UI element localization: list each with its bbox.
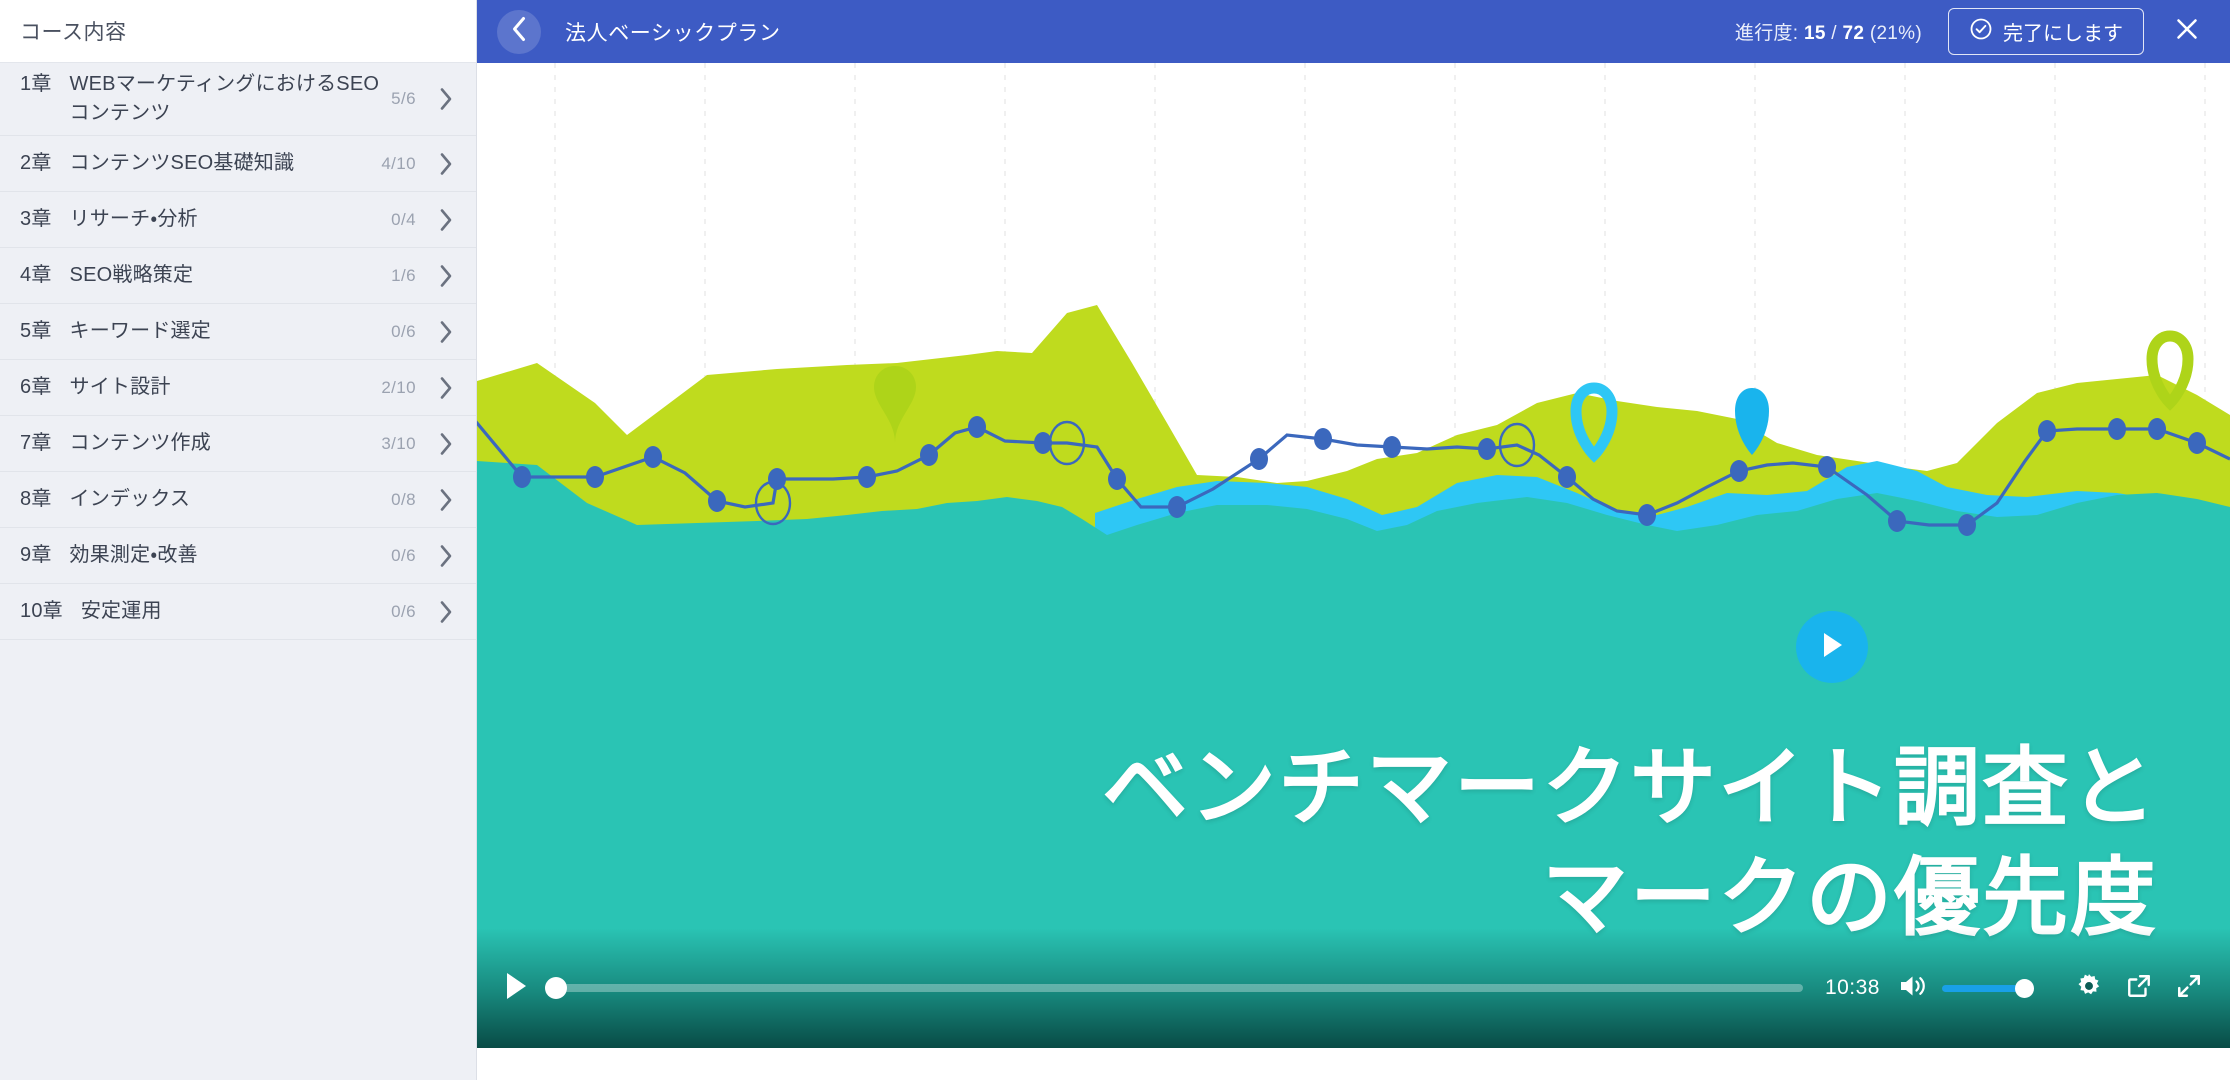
- seek-bar[interactable]: [545, 973, 1803, 1003]
- chevron-right-icon[interactable]: [438, 263, 454, 289]
- chapter-number: 4章: [20, 261, 52, 290]
- chapter-progress-count: 1/6: [391, 266, 416, 286]
- chapter-number: 7章: [20, 429, 52, 458]
- play-icon: [503, 971, 529, 1006]
- mark-complete-label: 完了にします: [2003, 17, 2123, 46]
- chapter-label: 4章SEO戦略策定: [20, 255, 379, 296]
- chapter-number: 2章: [20, 149, 52, 178]
- fullscreen-icon: [2176, 973, 2202, 1004]
- chapter-title: SEO戦略策定: [70, 261, 194, 290]
- chevron-right-icon[interactable]: [438, 487, 454, 513]
- chapter-number: 9章: [20, 541, 52, 570]
- chevron-right-icon[interactable]: [438, 599, 454, 625]
- chapter-row[interactable]: 3章リサーチ・分析0/4: [0, 192, 476, 248]
- chevron-right-icon[interactable]: [438, 86, 454, 112]
- course-content-sidebar: コース内容 1章WEBマーケティングにおけるSEOコンテンツ5/62章コンテンツ…: [0, 0, 477, 1080]
- chapter-label: 9章効果測定・改善: [20, 535, 379, 576]
- course-player-window: コース内容 1章WEBマーケティングにおけるSEOコンテンツ5/62章コンテンツ…: [0, 0, 2230, 1080]
- video-title: ベンチマークサイト調査と マークの優先度: [918, 733, 2158, 953]
- chapter-title: WEBマーケティングにおけるSEOコンテンツ: [70, 70, 380, 128]
- chapter-progress-count: 0/8: [391, 490, 416, 510]
- seek-handle[interactable]: [545, 977, 567, 999]
- chapter-progress-count: 5/6: [391, 89, 416, 109]
- chapter-progress-count: 3/10: [381, 434, 416, 454]
- chapter-progress-count: 0/6: [391, 546, 416, 566]
- progress-current: 15: [1804, 23, 1826, 44]
- page-title: コース内容: [20, 16, 126, 46]
- chapter-title: 効果測定・改善: [70, 541, 198, 570]
- play-overlay-button[interactable]: [1796, 611, 1868, 683]
- volume-handle[interactable]: [2015, 979, 2034, 998]
- chapter-number: 6章: [20, 373, 52, 402]
- chapter-label: 1章WEBマーケティングにおけるSEOコンテンツ: [20, 64, 379, 134]
- chapter-row[interactable]: 6章サイト設計2/10: [0, 360, 476, 416]
- fullscreen-button[interactable]: [2174, 973, 2204, 1003]
- progress-label: 進行度:: [1735, 23, 1798, 44]
- sidebar-header: コース内容: [0, 0, 476, 63]
- video-controls-bar: 10:38: [477, 928, 2230, 1048]
- chapter-label: 5章キーワード選定: [20, 311, 379, 352]
- main-panel: 法人ベーシックプラン 進行度: 15 / 72 (21%) 完了にします: [477, 0, 2230, 1080]
- chapter-title: キーワード選定: [70, 317, 211, 346]
- play-pause-button[interactable]: [499, 971, 533, 1005]
- chapter-title: インデックス: [70, 485, 191, 514]
- seek-track: [545, 984, 1803, 992]
- chapter-number: 8章: [20, 485, 52, 514]
- mute-button[interactable]: [1898, 973, 1928, 1003]
- chapter-label: 10章安定運用: [20, 591, 379, 632]
- chevron-right-icon[interactable]: [438, 543, 454, 569]
- chapter-label: 6章サイト設計: [20, 367, 369, 408]
- chapter-number: 10章: [20, 597, 63, 626]
- back-button[interactable]: [497, 10, 541, 54]
- chapter-row[interactable]: 10章安定運用0/6: [0, 584, 476, 640]
- chapter-progress-count: 4/10: [381, 154, 416, 174]
- volume-slider[interactable]: [1942, 976, 2034, 1000]
- chapter-row[interactable]: 9章効果測定・改善0/6: [0, 528, 476, 584]
- chevron-right-icon[interactable]: [438, 375, 454, 401]
- chapter-row[interactable]: 5章キーワード選定0/6: [0, 304, 476, 360]
- video-title-line-1: ベンチマークサイト調査と: [1102, 740, 2158, 836]
- chapter-progress-count: 0/6: [391, 602, 416, 622]
- chapter-row[interactable]: 8章インデックス0/8: [0, 472, 476, 528]
- check-circle-icon: [1969, 17, 1993, 47]
- chapter-title: コンテンツ作成: [70, 429, 211, 458]
- chapter-title: 安定運用: [81, 597, 162, 626]
- chapter-number: 3章: [20, 205, 52, 234]
- chapter-number: 1章: [20, 70, 52, 128]
- chapter-title: サイト設計: [70, 373, 171, 402]
- close-button[interactable]: [2170, 15, 2204, 49]
- close-icon: [2173, 15, 2201, 48]
- chapter-row[interactable]: 7章コンテンツ作成3/10: [0, 416, 476, 472]
- video-player[interactable]: ベンチマークサイト調査と マークの優先度 10:38: [477, 63, 2230, 1048]
- popout-button[interactable]: [2124, 973, 2154, 1003]
- volume-high-icon: [1898, 973, 1928, 1004]
- chapter-row[interactable]: 1章WEBマーケティングにおけるSEOコンテンツ5/6: [0, 63, 476, 136]
- chevron-right-icon[interactable]: [438, 431, 454, 457]
- chapter-label: 7章コンテンツ作成: [20, 423, 369, 464]
- chapter-progress-count: 2/10: [381, 378, 416, 398]
- progress-percent: (21%): [1870, 23, 1922, 44]
- progress-indicator: 進行度: 15 / 72 (21%): [1735, 18, 1922, 45]
- chapter-progress-count: 0/4: [391, 210, 416, 230]
- chevron-right-icon[interactable]: [438, 151, 454, 177]
- settings-button[interactable]: [2074, 973, 2104, 1003]
- mark-complete-button[interactable]: 完了にします: [1948, 8, 2144, 55]
- chapter-label: 3章リサーチ・分析: [20, 199, 379, 240]
- progress-total: 72: [1842, 23, 1864, 44]
- chapter-title: コンテンツSEO基礎知識: [70, 149, 295, 178]
- chapter-list: 1章WEBマーケティングにおけるSEOコンテンツ5/62章コンテンツSEO基礎知…: [0, 63, 476, 1080]
- chevron-left-icon: [511, 16, 527, 47]
- plan-title: 法人ベーシックプラン: [565, 17, 1735, 47]
- chevron-right-icon[interactable]: [438, 319, 454, 345]
- play-icon: [1817, 629, 1847, 666]
- top-bar: 法人ベーシックプラン 進行度: 15 / 72 (21%) 完了にします: [477, 0, 2230, 63]
- chevron-right-icon[interactable]: [438, 207, 454, 233]
- chapter-label: 2章コンテンツSEO基礎知識: [20, 143, 369, 184]
- chapter-row[interactable]: 2章コンテンツSEO基礎知識4/10: [0, 136, 476, 192]
- progress-separator: /: [1831, 23, 1837, 44]
- chapter-number: 5章: [20, 317, 52, 346]
- popout-icon: [2126, 973, 2152, 1004]
- time-display: 10:38: [1825, 976, 1880, 1000]
- chapter-row[interactable]: 4章SEO戦略策定1/6: [0, 248, 476, 304]
- chapter-label: 8章インデックス: [20, 479, 379, 520]
- chapter-progress-count: 0/6: [391, 322, 416, 342]
- gear-icon: [2075, 972, 2103, 1005]
- chapter-title: リサーチ・分析: [70, 205, 198, 234]
